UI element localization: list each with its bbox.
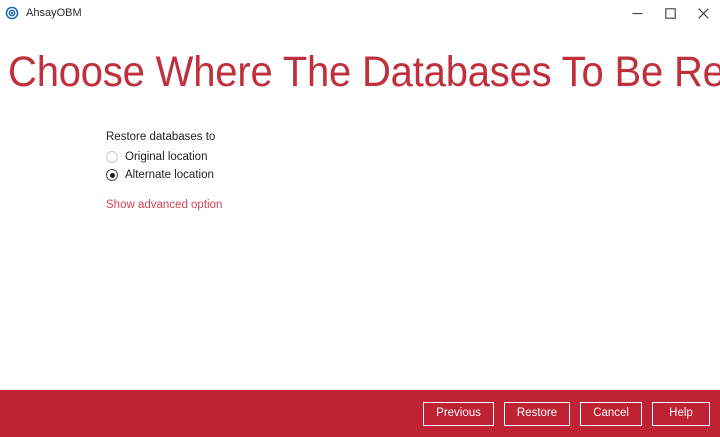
title-bar: AhsayOBM bbox=[0, 0, 720, 26]
ahsay-target-icon bbox=[5, 6, 19, 20]
window-controls bbox=[621, 0, 720, 26]
footer-button-bar: Previous Restore Cancel Help bbox=[0, 390, 720, 437]
page-title: Choose Where The Databases To Be Restore… bbox=[8, 44, 670, 100]
radio-icon-alternate[interactable] bbox=[106, 169, 118, 181]
cancel-button[interactable]: Cancel bbox=[580, 402, 642, 426]
app-title: AhsayOBM bbox=[26, 6, 82, 20]
radio-label-alternate: Alternate location bbox=[125, 168, 214, 183]
restore-location-form: Restore databases to Original location A… bbox=[106, 130, 546, 213]
radio-alternate-location[interactable]: Alternate location bbox=[106, 166, 546, 184]
radio-icon-original[interactable] bbox=[106, 151, 118, 163]
restore-button[interactable]: Restore bbox=[504, 402, 570, 426]
show-advanced-option-link[interactable]: Show advanced option bbox=[106, 198, 222, 213]
previous-button[interactable]: Previous bbox=[423, 402, 494, 426]
app-window: AhsayOBM Choose Where The Databases To B… bbox=[0, 0, 720, 437]
radio-label-original: Original location bbox=[125, 150, 207, 165]
help-button[interactable]: Help bbox=[652, 402, 710, 426]
radio-original-location[interactable]: Original location bbox=[106, 148, 546, 166]
restore-databases-to-label: Restore databases to bbox=[106, 130, 546, 145]
minimize-icon[interactable] bbox=[621, 0, 654, 26]
maximize-icon[interactable] bbox=[654, 0, 687, 26]
close-icon[interactable] bbox=[687, 0, 720, 26]
title-bar-left: AhsayOBM bbox=[0, 6, 621, 20]
